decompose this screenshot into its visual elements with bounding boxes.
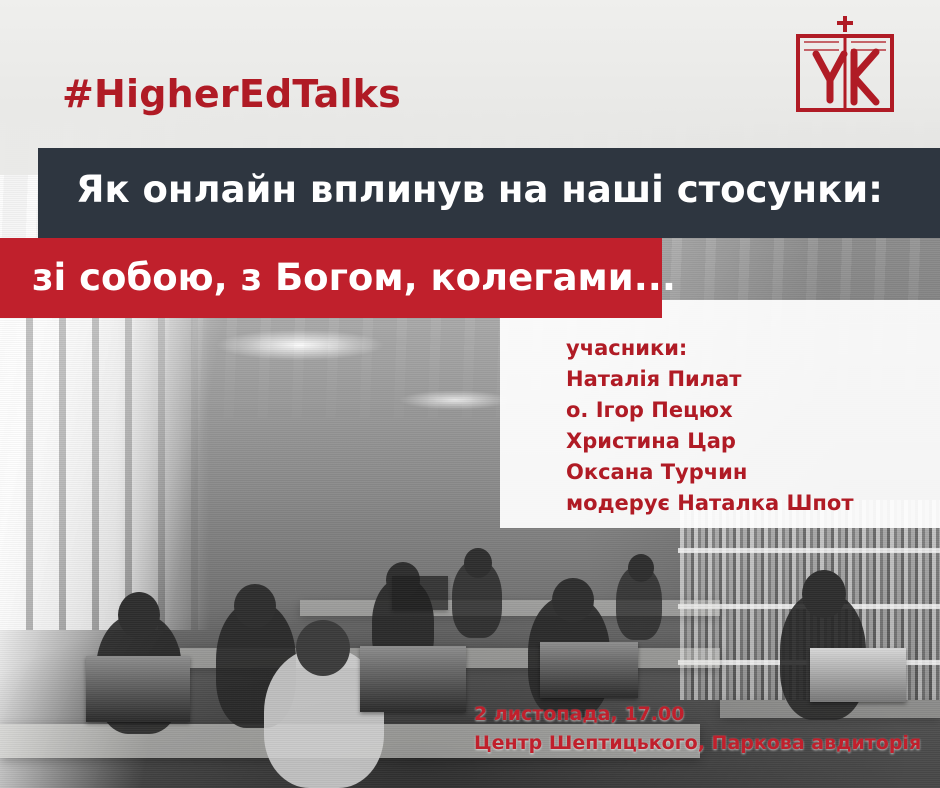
person-head (118, 592, 160, 638)
headline-bar-secondary: зі собою, з Богом, колегами... (0, 238, 662, 318)
poster-canvas: #HigherEdTalks Як онлайн вплинув на наші… (0, 0, 940, 788)
participant-name: Христина Цар (566, 426, 854, 457)
window-wall (0, 300, 210, 630)
event-venue: Центр Шептицького, Паркова авдиторія (474, 729, 921, 758)
participant-moderator: модерує Наталка Шпот (566, 488, 854, 519)
participant-name: Наталія Пилат (566, 364, 854, 395)
participant-name: Оксана Турчин (566, 457, 854, 488)
headline-line-1: Як онлайн вплинув на наші стосунки: (76, 168, 883, 211)
laptop (392, 576, 448, 610)
person-head (802, 570, 846, 618)
shelf-divider (678, 548, 940, 553)
participants-block: учасники: Наталія Пилат о. Ігор Пецюх Хр… (566, 333, 854, 519)
headline-line-2: зі собою, з Богом, колегами... (32, 256, 676, 299)
event-details-block: 2 листопада, 17.00 Центр Шептицького, Па… (474, 700, 921, 758)
person-head (628, 554, 654, 582)
participant-name: о. Ігор Пецюх (566, 395, 854, 426)
laptop (86, 656, 190, 722)
person-head (234, 584, 276, 628)
participants-label: учасники: (566, 333, 854, 364)
laptop (360, 646, 466, 712)
person-head (296, 620, 350, 676)
ucu-monogram-logo (792, 14, 898, 120)
headline-bar-primary: Як онлайн вплинув на наші стосунки: (38, 148, 940, 238)
person-head (464, 548, 492, 578)
event-datetime: 2 листопада, 17.00 (474, 700, 921, 729)
hashtag-title: #HigherEdTalks (62, 72, 401, 116)
laptop (540, 642, 638, 698)
laptop (810, 648, 906, 702)
person-head (552, 578, 594, 622)
